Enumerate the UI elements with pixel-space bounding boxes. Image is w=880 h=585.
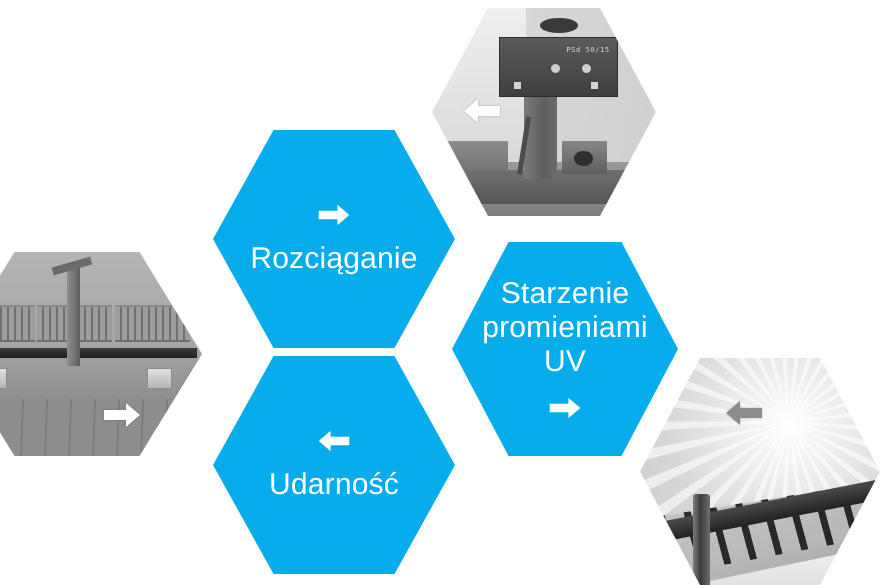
rig-grate-right bbox=[115, 305, 190, 342]
machine-device-label: PSd 50/15 bbox=[566, 46, 609, 54]
rig-center-beam bbox=[67, 268, 80, 366]
rig-crossbar bbox=[0, 348, 197, 358]
hex-cell-uv[interactable]: Starzenie promieniami UV bbox=[452, 242, 678, 456]
rig-ground bbox=[0, 399, 202, 456]
hex-label-tensile: Rozciąganie bbox=[242, 242, 425, 276]
hex-cell-tensile[interactable]: Rozciąganie bbox=[213, 130, 455, 348]
arrow-left-icon bbox=[462, 96, 502, 126]
infographic-canvas: PSd 50/15 bbox=[0, 0, 880, 585]
machine-knob-1 bbox=[551, 64, 560, 73]
hex-cell-impact[interactable]: Udarność bbox=[213, 356, 455, 574]
machine-control-panel: PSd 50/15 bbox=[499, 37, 617, 97]
rig-grate-left bbox=[0, 305, 35, 342]
rig-anchor-right bbox=[147, 368, 172, 388]
arrow-left-icon bbox=[724, 398, 764, 428]
arrow-right-icon bbox=[317, 202, 351, 228]
machine-clamp-bore bbox=[574, 151, 593, 166]
arrow-right-icon bbox=[102, 400, 142, 430]
rig-anchor-left bbox=[0, 368, 7, 388]
rig-scene bbox=[0, 252, 202, 456]
machine-button-1 bbox=[514, 82, 521, 89]
machine-button-2 bbox=[591, 82, 598, 89]
arrow-right-icon bbox=[548, 395, 582, 421]
photo-hex-roof bbox=[640, 358, 880, 585]
machine-knob-2 bbox=[582, 64, 591, 73]
arrow-left-icon bbox=[317, 428, 351, 454]
roof-scene bbox=[640, 358, 880, 585]
hex-label-impact: Udarność bbox=[261, 468, 407, 502]
photo-hex-rig bbox=[0, 252, 202, 456]
photo-hex-machine: PSd 50/15 bbox=[432, 8, 656, 216]
machine-handwheel bbox=[540, 18, 578, 33]
roof-downspout bbox=[693, 494, 710, 585]
machine-clamp bbox=[562, 141, 607, 174]
hex-label-uv: Starzenie promieniami UV bbox=[474, 277, 656, 380]
